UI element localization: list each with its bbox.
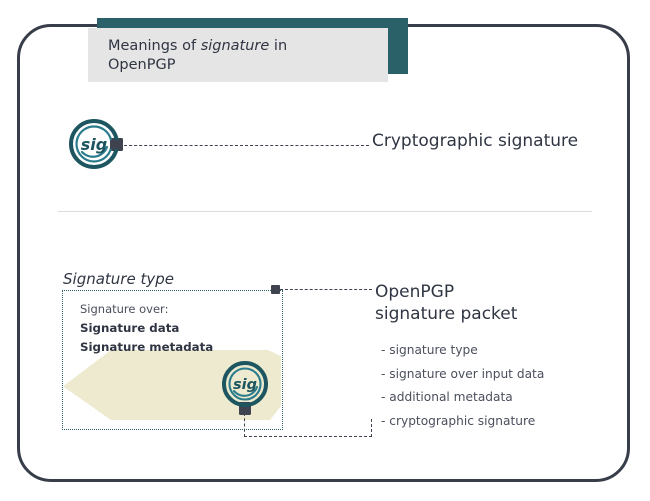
crypto-signature-label: Cryptographic signature xyxy=(372,131,578,151)
packet-field-list: - signature type - signature over input … xyxy=(381,339,611,433)
packet-title-line1: OpenPGP xyxy=(375,281,585,303)
connector-seal-down xyxy=(244,413,245,437)
signature-over-intro: Signature over: xyxy=(80,300,280,319)
connector-seal-right xyxy=(244,436,372,437)
title-prefix: Meanings of xyxy=(108,38,201,54)
packet-field-1: - signature over input data xyxy=(381,363,611,387)
signature-type-content: Signature over: Signature data Signature… xyxy=(80,300,280,357)
packet-field-0: - signature type xyxy=(381,339,611,363)
title-block: Meanings of signature in OpenPGP xyxy=(88,18,408,82)
connector-anchor-packet xyxy=(271,285,280,294)
packet-title-line2: signature packet xyxy=(375,303,585,325)
signature-type-label: Signature type xyxy=(63,270,174,288)
page-title: Meanings of signature in OpenPGP xyxy=(108,37,376,75)
svg-text:sig: sig xyxy=(81,135,107,154)
svg-text:sig: sig xyxy=(233,377,257,393)
signature-type-item-1: Signature metadata xyxy=(80,338,280,357)
connector-seal-up xyxy=(371,419,372,437)
packet-field-3: - cryptographic signature xyxy=(381,410,611,434)
packet-title: OpenPGP signature packet xyxy=(375,281,585,325)
packet-field-2: - additional metadata xyxy=(381,386,611,410)
title-box: Meanings of signature in OpenPGP xyxy=(88,28,388,82)
connector-crypto-signature xyxy=(119,145,369,146)
connector-anchor-top xyxy=(110,140,119,149)
title-suffix: in xyxy=(269,38,287,54)
title-emphasis: signature xyxy=(201,38,270,54)
connector-packet xyxy=(280,289,372,290)
sig-seal-icon-inner: sig xyxy=(217,358,273,420)
section-divider xyxy=(58,211,592,212)
signature-type-item-0: Signature data xyxy=(80,319,280,338)
title-line2: OpenPGP xyxy=(108,57,175,73)
